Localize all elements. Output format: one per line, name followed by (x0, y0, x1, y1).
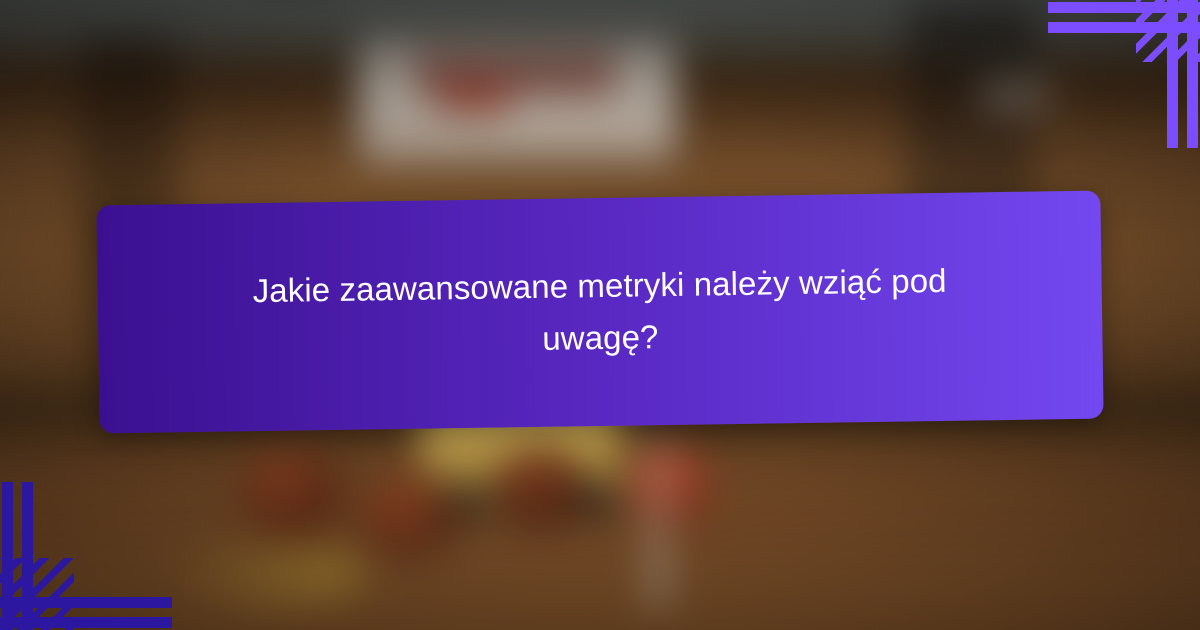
page-title: Jakie zaawansowane metryki należy wziąć … (209, 254, 990, 370)
corner-stripes-bottom-left (0, 480, 180, 630)
headline-banner-wrapper: Jakie zaawansowane metryki należy wziąć … (96, 191, 1103, 434)
diagonal-hatch-icon (1136, 0, 1200, 62)
corner-stripes-top-right (1040, 0, 1200, 150)
diagonal-hatch-icon (0, 558, 74, 630)
share-card: Jakie zaawansowane metryki należy wziąć … (0, 0, 1200, 630)
headline-banner: Jakie zaawansowane metryki należy wziąć … (96, 191, 1103, 434)
